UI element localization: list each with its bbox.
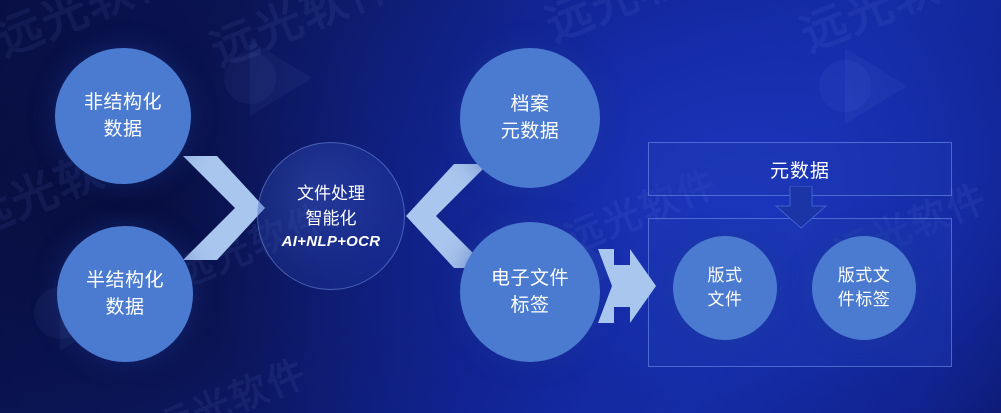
arrow-right-icon [596, 243, 658, 329]
node-label-line: 数据 [105, 294, 144, 321]
chevron-right-icon [175, 152, 267, 264]
hub-label-line: 智能化 [306, 207, 357, 231]
watermark-text: 远光软件 [146, 342, 315, 413]
watermark-text: 远光软件 [790, 0, 993, 65]
node-label-line: 档案 [510, 91, 549, 118]
watermark-text: 远光软件 [200, 0, 403, 80]
node-archive-metadata[interactable]: 档案 元数据 [460, 48, 600, 188]
node-label-line: 版式 [708, 264, 743, 288]
arrow-down-icon [772, 186, 830, 230]
node-label-line: 元数据 [501, 118, 560, 145]
node-label-line: 数据 [103, 116, 142, 143]
metadata-header-label: 元数据 [770, 156, 830, 183]
node-semi-structured-data[interactable]: 半结构化 数据 [57, 226, 193, 362]
node-label-line: 标签 [510, 292, 549, 319]
node-layout-file[interactable]: 版式 文件 [673, 236, 777, 340]
node-label-line: 文件 [708, 288, 743, 312]
node-label-line: 非结构化 [84, 89, 162, 116]
node-file-processing-hub[interactable]: 文件处理 智能化 AI+NLP+OCR [257, 142, 405, 290]
diagram-canvas: 远光软件 远光软件 远光软件 远光软件 远光软件 远光软件 远光软件 远光软件 … [0, 0, 1001, 413]
node-label-line: 版式文 [838, 264, 891, 288]
node-electronic-file-tag[interactable]: 电子文件 标签 [460, 222, 600, 362]
hub-subtitle: AI+NLP+OCR [282, 233, 381, 250]
watermark-text: 远光软件 [535, 0, 738, 55]
node-label-line: 半结构化 [86, 267, 164, 294]
node-label-line: 电子文件 [491, 265, 569, 292]
hub-label-line: 文件处理 [297, 182, 365, 206]
node-label-line: 件标签 [838, 288, 891, 312]
node-layout-file-tag[interactable]: 版式文 件标签 [812, 236, 916, 340]
node-unstructured-data[interactable]: 非结构化 数据 [55, 48, 191, 184]
